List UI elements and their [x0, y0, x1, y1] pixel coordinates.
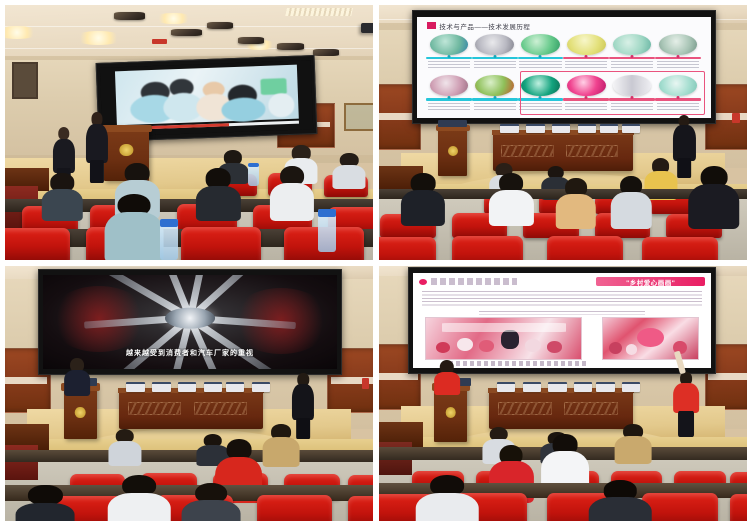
body-text-block [479, 311, 646, 315]
nameplate [526, 124, 544, 134]
exit-sign-icon [362, 378, 369, 389]
ceiling-spotlight-icon [238, 37, 264, 44]
ceiling-spotlight-icon [207, 22, 233, 30]
presenter-pointing-red-shirt [673, 368, 699, 437]
wall-frame [344, 103, 373, 131]
auditorium-room-tl [5, 5, 373, 260]
audience-member-front [16, 485, 75, 521]
ceiling-downlight-icon [154, 13, 194, 24]
nameplate [500, 124, 518, 134]
auditorium-room-tr: 技术与产品——技术发展历程 [379, 5, 747, 260]
ceiling-light-panel-icon [285, 8, 353, 16]
body-text-block [422, 301, 702, 309]
slide-photo-caption [449, 361, 586, 366]
slide-report: "乡村爱心画画" [413, 273, 711, 367]
slide-title-row: 技术与产品——技术发展历程 [427, 21, 530, 31]
audience-seat-row-front [379, 229, 747, 260]
nameplate [497, 382, 515, 392]
nameplate [600, 124, 618, 134]
audience-member [263, 424, 300, 465]
auditorium-room-br: "乡村爱心画画" [379, 266, 747, 521]
ceiling-spotlight-icon [171, 29, 202, 37]
slide-banner: "乡村爱心画画" [596, 277, 705, 286]
head-table-br [489, 388, 633, 429]
nameplate [622, 124, 640, 134]
timeline-highlight-box [520, 71, 705, 114]
audience-member-front [182, 483, 241, 521]
audience-member [401, 173, 445, 224]
header-text-placeholder [431, 278, 517, 285]
water-bottle [248, 163, 259, 186]
wall-frame [12, 62, 38, 98]
led-screen-br: "乡村爱心画画" [408, 267, 715, 374]
head-table-bl [119, 388, 263, 429]
banner-text: "乡村爱心画画" [626, 277, 675, 287]
audience-member-front [416, 475, 479, 521]
audience-member [108, 429, 141, 465]
title-marker-icon [427, 22, 436, 29]
nameplate [622, 382, 640, 392]
audience-member [556, 178, 596, 226]
audience-member-front [589, 480, 652, 521]
collage-photo-top-right[interactable]: 技术与产品——技术发展历程 [379, 5, 747, 260]
audience-member [615, 424, 652, 462]
body-text-block [422, 291, 702, 299]
ceiling-spotlight-icon [114, 12, 145, 20]
photo-collage: 技术与产品——技术发展历程 [0, 0, 750, 524]
wheel-hub-icon [165, 308, 215, 329]
nameplate [574, 382, 592, 392]
nameplate [178, 382, 196, 392]
logo-icon [419, 279, 427, 285]
slide-technology-timeline: 技术与产品——技术发展历程 [417, 17, 711, 118]
slide-photo [602, 317, 699, 360]
audience-member [270, 166, 314, 220]
audience-member-front [108, 475, 171, 521]
slide-header-row: "乡村爱心画画" [419, 277, 705, 288]
timeline-row-1 [426, 33, 702, 71]
auditorium-room-bl: 越来越受到消费者和汽车厂家的重视 [5, 266, 373, 521]
exit-sign-icon [732, 113, 739, 123]
water-bottle [318, 209, 336, 252]
projector-icon [361, 23, 373, 33]
led-screen-tr: 技术与产品——技术发展历程 [412, 10, 716, 124]
screen-content-bl: 越来越受到消费者和汽车厂家的重视 [43, 275, 337, 369]
presenter-at-podium-red-shirt [434, 360, 460, 393]
audience-member [42, 173, 82, 219]
audience-member [196, 168, 240, 219]
ceiling-spotlight-icon [277, 43, 303, 50]
screen-content-br: "乡村爱心画画" [413, 273, 711, 367]
slide-photo [425, 317, 582, 360]
nameplate [596, 382, 614, 392]
exit-sign-icon [152, 39, 167, 44]
ceiling-downlight-icon [5, 26, 39, 38]
collage-photo-bottom-left[interactable]: 越来越受到消费者和汽车厂家的重视 [5, 266, 373, 521]
audience-member-front [104, 194, 163, 260]
video-frame [115, 64, 299, 124]
nameplate [204, 382, 222, 392]
collage-photo-top-left[interactable] [5, 5, 373, 260]
nameplate [152, 382, 170, 392]
audience-member [688, 166, 740, 227]
slide-title: 技术与产品——技术发展历程 [439, 21, 530, 31]
water-bottle [160, 219, 178, 260]
laptop-icon [438, 120, 467, 128]
nameplate [552, 124, 570, 134]
nameplate [226, 382, 244, 392]
nameplate [252, 382, 270, 392]
ceiling-downlight-icon [74, 31, 123, 45]
audience-member [611, 176, 651, 227]
audience-desk-row [5, 450, 373, 463]
audience-member [333, 153, 366, 189]
video-subtitle: 越来越受到消费者和汽车厂家的重视 [67, 348, 314, 358]
podium-tr [438, 125, 467, 176]
nameplate [578, 124, 596, 134]
audience-member [489, 173, 533, 224]
screen-content-tr: 技术与产品——技术发展历程 [417, 17, 711, 118]
nameplate [548, 382, 566, 392]
nameplate [126, 382, 144, 392]
presenter-at-podium [64, 358, 90, 394]
collage-photo-bottom-right[interactable]: "乡村爱心画画" [379, 266, 747, 521]
nameplate [523, 382, 541, 392]
slide-wheel-video: 越来越受到消费者和汽车厂家的重视 [43, 275, 337, 369]
